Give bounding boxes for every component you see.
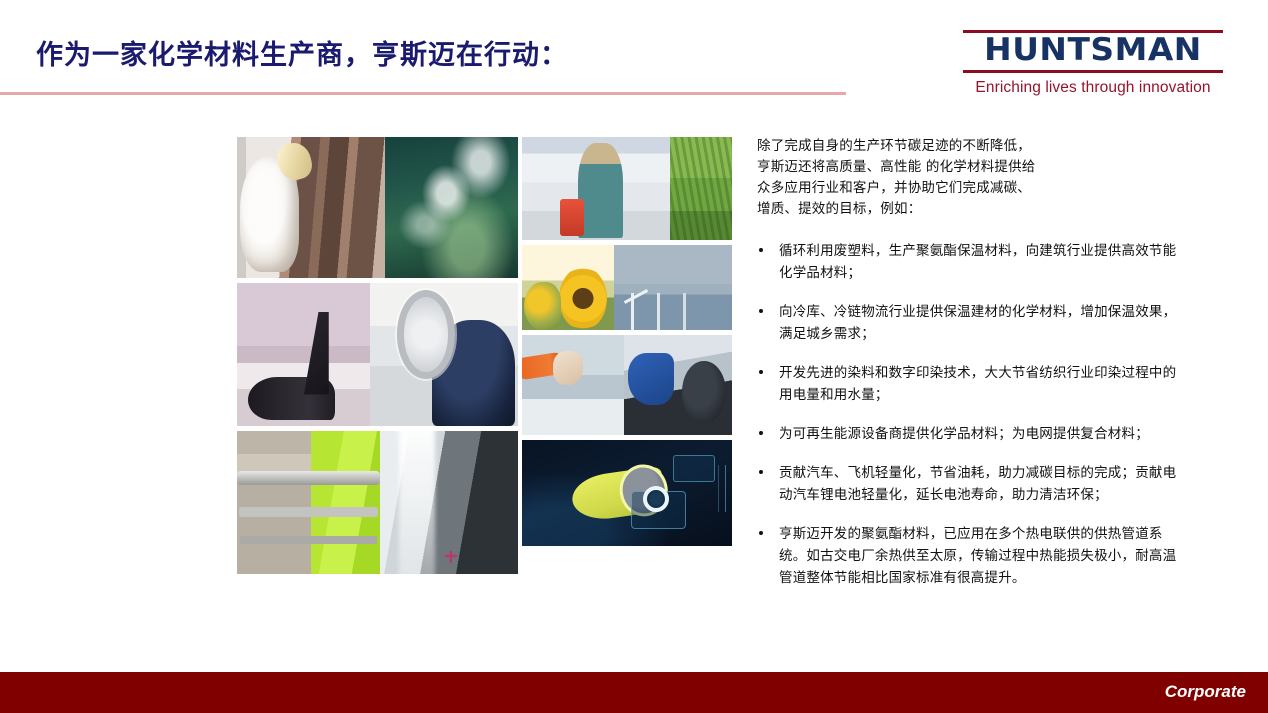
bullet-dot-icon (759, 531, 763, 535)
hud-scale-line (725, 465, 726, 512)
mosaic-left-column (237, 137, 518, 579)
photo-insulated-pipe-hud-visualization (522, 440, 732, 546)
footer-label: Corporate (1165, 682, 1246, 702)
photo-offshore-wind-turbines (614, 245, 732, 330)
photo-green-crop-field (670, 137, 732, 240)
mosaic-right-column (522, 137, 732, 551)
mosaic-right-row-4 (522, 440, 732, 546)
bullet-dot-icon (759, 309, 763, 313)
photo-ocean-plastic-pollution (385, 137, 518, 278)
bullet-text: 贡献汽车、飞机轻量化，节省油耗，助力减碳目标的完成；贡献电动汽车锂电池轻量化，延… (779, 465, 1176, 503)
photo-supermarket-cold-chain-shopper (522, 137, 670, 240)
list-item: 循环利用废塑料，生产聚氨酯保温材料，向建筑行业提供高效节能化学品材料； (757, 240, 1177, 284)
bullet-text: 亨斯迈开发的聚氨酯材料，已应用在多个热电联供的供热管道系统。如古交电厂余热供至太… (779, 526, 1176, 586)
photo-airplane-tail-at-sunset (237, 283, 370, 426)
logo-tagline: Enriching lives through innovation (963, 79, 1223, 97)
hud-panel-top (673, 455, 715, 483)
photo-spray-foam-insulation-worker (237, 137, 385, 278)
intro-line-4: 增质、提效的目标，例如： (757, 199, 1177, 220)
mosaic-right-row-1 (522, 137, 732, 240)
text-column: 除了完成自身的生产环节碳足迹的不断降低， 亨斯迈还将高质量、高性能 的化学材料提… (757, 136, 1177, 606)
bullet-dot-icon (759, 248, 763, 252)
intro-line-3: 众多应用行业和客户，并协助它们完成减碳、 (757, 178, 1177, 199)
list-item: 开发先进的染料和数字印染技术，大大节省纺织行业印染过程中的用电量和用水量； (757, 362, 1177, 406)
bullet-dot-icon (759, 370, 763, 374)
list-item: 为可再生能源设备商提供化学品材料；为电网提供复合材料； (757, 423, 1177, 445)
list-item: 亨斯迈开发的聚氨酯材料，已应用在多个热电联供的供热管道系统。如古交电厂余热供至太… (757, 523, 1177, 589)
bullet-text: 为可再生能源设备商提供化学品材料；为电网提供复合材料； (779, 426, 1149, 442)
mosaic-row-3 (237, 431, 518, 574)
slide-root: 作为一家化学材料生产商，亨斯迈在行动： HUNTSMAN Enriching l… (0, 0, 1268, 713)
photo-technician-at-industrial-machine (370, 283, 518, 426)
mosaic-row-1 (237, 137, 518, 278)
hud-gauge-icon (643, 486, 669, 512)
mosaic-row-2 (237, 283, 518, 426)
photo-ev-charging-cable (522, 335, 624, 435)
logo-bar-bottom (963, 70, 1223, 73)
bullet-text: 向冷库、冷链物流行业提供保温建材的化学材料，增加保温效果，满足城乡需求； (779, 304, 1176, 342)
bullet-text: 开发先进的染料和数字印染技术，大大节省纺织行业印染过程中的用电量和用水量； (779, 365, 1176, 403)
photo-green-textile-dyeing-line (237, 431, 380, 574)
bullet-text: 循环利用废塑料，生产聚氨酯保温材料，向建筑行业提供高效节能化学品材料； (779, 243, 1176, 281)
mosaic-right-row-2 (522, 245, 732, 330)
photo-sunflower-field (522, 245, 614, 330)
logo-wordmark: HUNTSMAN (955, 35, 1231, 67)
mosaic-right-row-3 (522, 335, 732, 435)
footer-bar: Corporate (0, 672, 1268, 713)
intro-line-2: 亨斯迈还将高质量、高性能 的化学材料提供给 (757, 157, 1177, 178)
bullet-list: 循环利用废塑料，生产聚氨酯保温材料，向建筑行业提供高效节能化学品材料； 向冷库、… (757, 240, 1177, 589)
title-divider (0, 92, 846, 95)
bullet-dot-icon (759, 431, 763, 435)
list-item: 向冷库、冷链物流行业提供保温建材的化学材料，增加保温效果，满足城乡需求； (757, 301, 1177, 345)
bullet-dot-icon (759, 470, 763, 474)
intro-paragraph: 除了完成自身的生产环节碳足迹的不断降低， 亨斯迈还将高质量、高性能 的化学材料提… (757, 136, 1177, 220)
intro-line-1: 除了完成自身的生产环节碳足迹的不断降低， (757, 136, 1177, 157)
huntsman-logo: HUNTSMAN Enriching lives through innovat… (963, 30, 1223, 97)
photo-waterfall-mist (380, 431, 518, 574)
page-title: 作为一家化学材料生产商，亨斯迈在行动： (36, 33, 568, 72)
list-item: 贡献汽车、飞机轻量化，节省油耗，助力减碳目标的完成；贡献电动汽车锂电池轻量化，延… (757, 462, 1177, 506)
photo-blue-fuel-nozzle (624, 335, 732, 435)
